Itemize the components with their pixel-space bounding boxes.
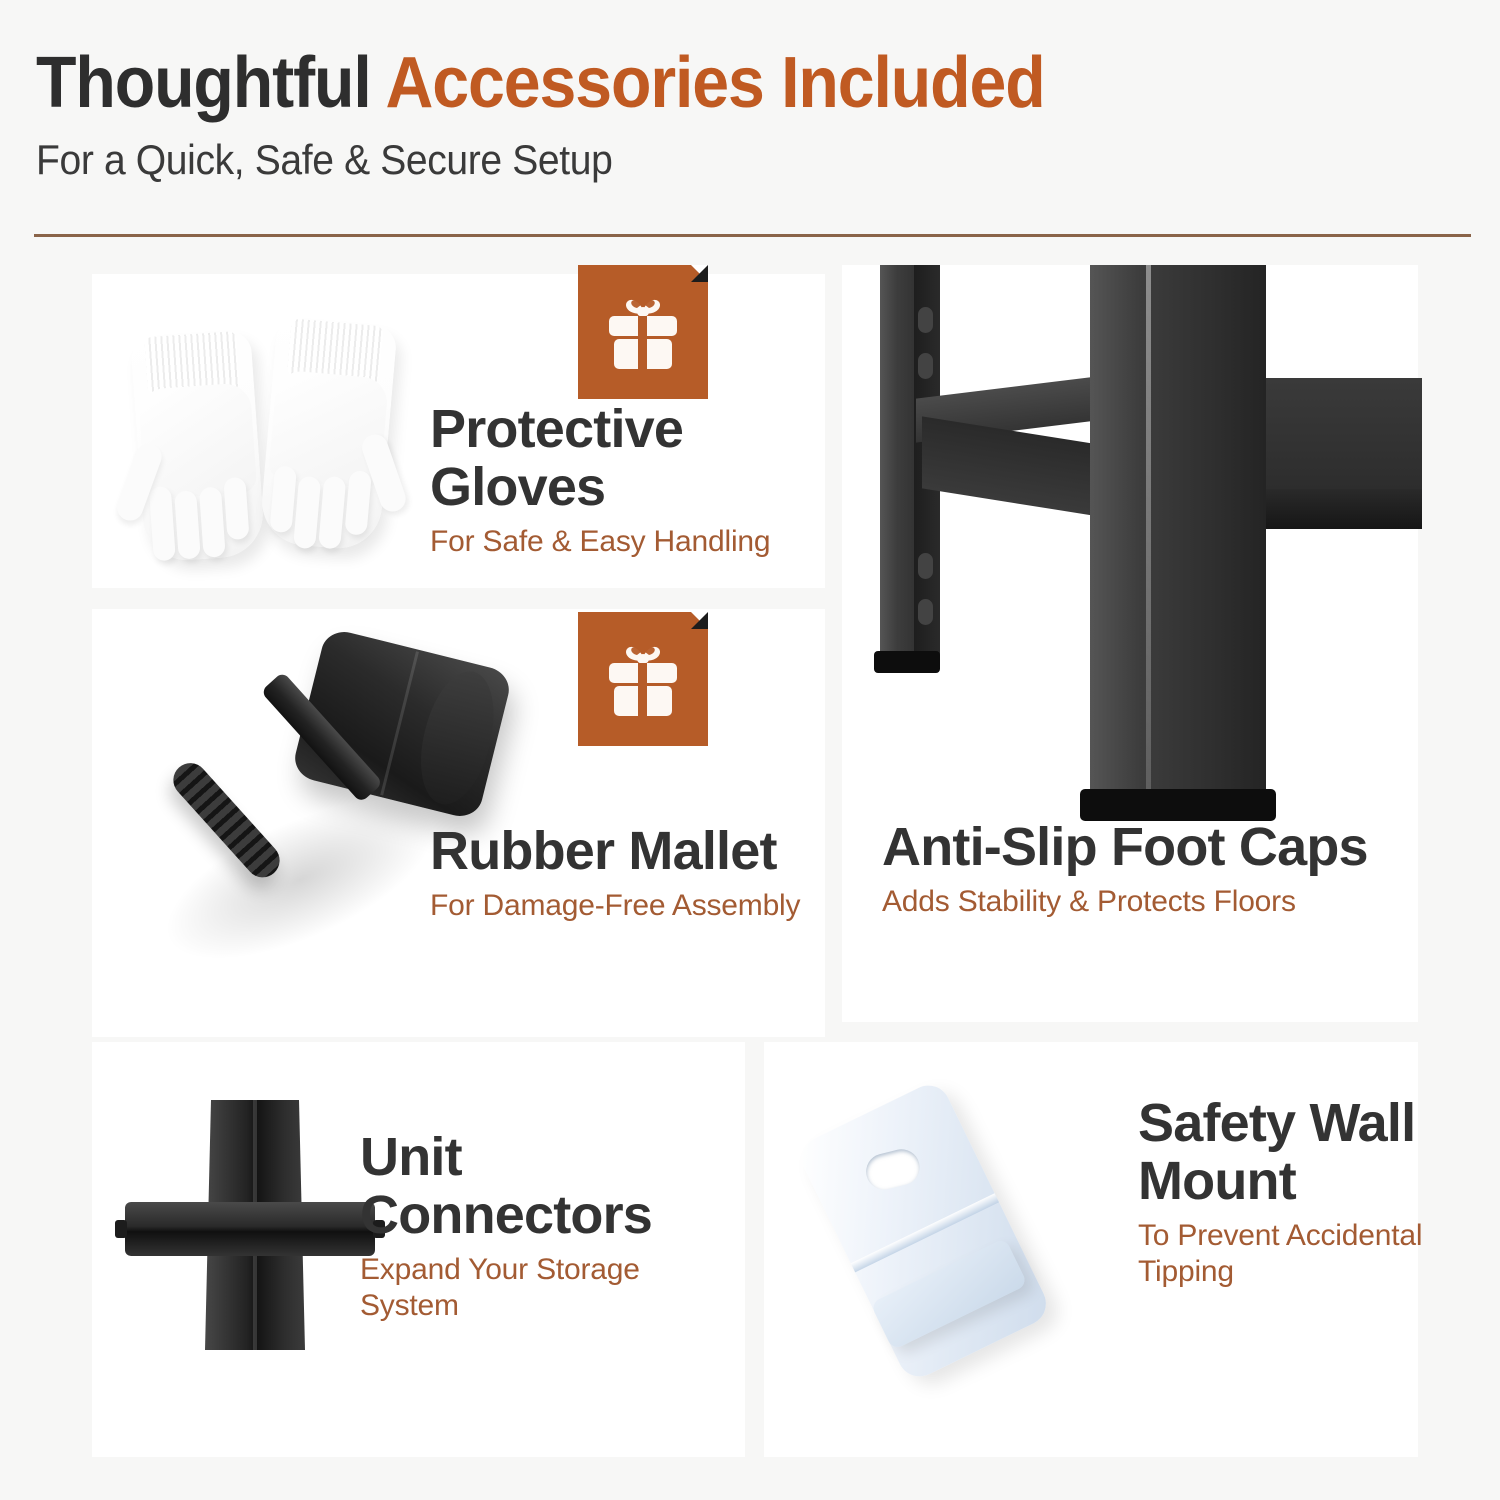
text-safety-wall-mount: Safety Wall Mount To Prevent Accidental …: [1138, 1094, 1423, 1290]
connector-horizontal-bar: [125, 1202, 375, 1256]
gift-icon: [578, 265, 708, 399]
card-caption: For Damage-Free Assembly: [430, 888, 820, 924]
gift-icon-dogear-dark: [691, 265, 708, 282]
shelf-leg-slot: [918, 353, 933, 379]
glove-finger: [174, 490, 201, 559]
gift-icon-glyph: [605, 293, 681, 371]
text-unit-connectors: Unit Connectors Expand Your Storage Syst…: [360, 1128, 740, 1324]
foot-cap-back: [874, 651, 940, 673]
glove-finger: [199, 487, 226, 558]
shelf-leg-slot: [918, 307, 933, 333]
glove-finger: [318, 476, 346, 550]
card-caption: Adds Stability & Protects Floors: [882, 884, 1402, 920]
gift-icon-dogear-dark: [691, 612, 708, 629]
page-title-accent: Accessories Included: [386, 43, 1045, 123]
card-title: Protective Gloves: [430, 400, 820, 516]
wall-bracket-screw-hole: [862, 1145, 923, 1193]
card-caption: Expand Your Storage System: [360, 1252, 740, 1324]
header: Thoughtful Accessories Included For a Qu…: [36, 44, 1470, 184]
text-anti-slip-foot-caps: Anti-Slip Foot Caps Adds Stability & Pro…: [882, 818, 1402, 920]
header-divider: [34, 234, 1471, 237]
glove-left: [130, 330, 265, 563]
page-title-primary: Thoughtful: [36, 43, 386, 123]
card-caption: To Prevent Accidental Tipping: [1138, 1218, 1423, 1290]
page-subtitle: For a Quick, Safe & Secure Setup: [36, 136, 1370, 184]
shelf-underside: [922, 416, 1106, 517]
shelf-leg-slot: [918, 553, 933, 579]
mallet-head-seam: [380, 651, 419, 795]
glove-right: [258, 317, 397, 552]
connector-photo: [125, 1100, 375, 1360]
text-protective-gloves: Protective Gloves For Safe & Easy Handli…: [430, 400, 820, 560]
glove-finger: [269, 466, 297, 534]
text-rubber-mallet: Rubber Mallet For Damage-Free Assembly: [430, 822, 820, 924]
accessories-infographic: Thoughtful Accessories Included For a Qu…: [0, 0, 1500, 1500]
card-title: Safety Wall Mount: [1138, 1094, 1423, 1210]
card-caption: For Safe & Easy Handling: [430, 524, 820, 560]
gift-icon-glyph: [605, 640, 681, 718]
shelf-leg-highlight: [1146, 265, 1151, 795]
glove-finger: [293, 476, 321, 550]
page-title: Thoughtful Accessories Included: [36, 44, 1355, 122]
shelf-leg-front: [1090, 265, 1266, 795]
wall-bracket-photo: [810, 1090, 1100, 1390]
wall-bracket-plate: [795, 1078, 1054, 1384]
gift-icon: [578, 612, 708, 746]
shelf-right-edge: [1252, 489, 1422, 529]
shelf-right-surface: [1252, 378, 1422, 498]
card-title: Anti-Slip Foot Caps: [882, 818, 1402, 876]
shelf-legs-photo: [842, 265, 1418, 825]
card-title: Unit Connectors: [360, 1128, 740, 1244]
gloves-photo: [120, 300, 420, 565]
glove-finger: [223, 477, 249, 540]
shelf-leg-slot: [918, 599, 933, 625]
card-title: Rubber Mallet: [430, 822, 820, 880]
glove-finger: [344, 470, 371, 536]
